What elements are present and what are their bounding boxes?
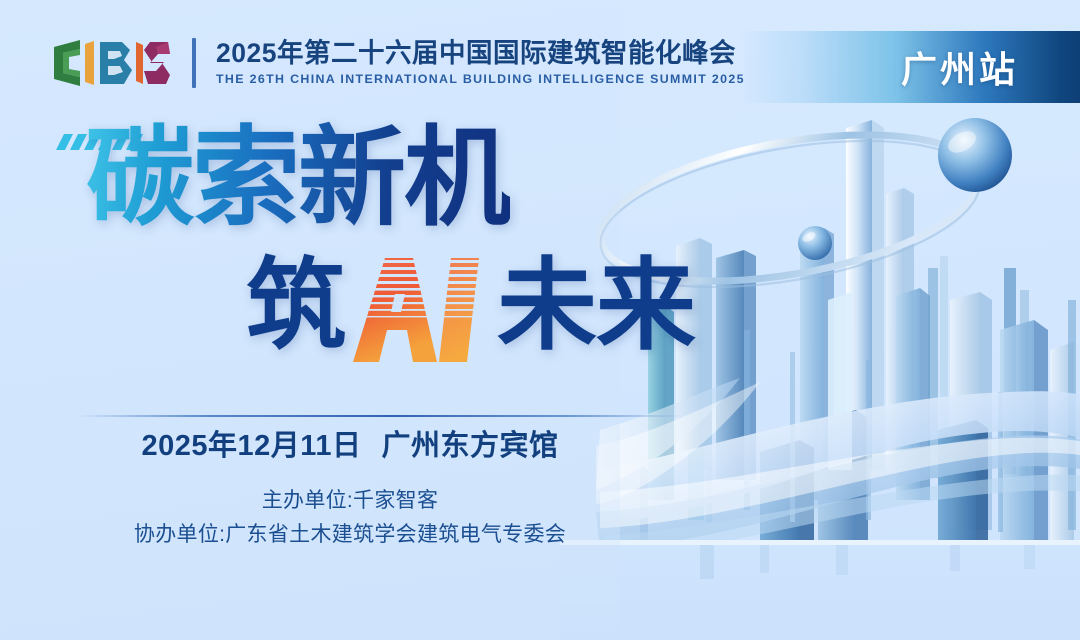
section-divider (78, 415, 682, 417)
headline-line-2: 筑 (0, 250, 700, 368)
headline-line-1: 碳索新机 (0, 118, 700, 240)
headline-line-2-suffix: 未来 (497, 250, 695, 362)
event-co-host: 协办单位:广东省土木建筑学会建筑电气专委会 (0, 518, 700, 552)
event-date: 2025年12月11日 (142, 430, 362, 462)
orbit-sphere-large (938, 118, 1012, 192)
event-banner: 2025年第二十六届中国国际建筑智能化峰会 THE 26TH CHINA INT… (0, 0, 1080, 640)
headline-line-2-prefix: 筑 (246, 250, 345, 362)
headline: 碳索新机 筑 (0, 118, 700, 368)
headline-line-1-text: 碳索新机 (86, 118, 510, 239)
event-date-venue: 2025年12月11日广州东方宾馆 (0, 428, 700, 466)
header-text: 2025年第二十六届中国国际建筑智能化峰会 THE 26TH CHINA INT… (216, 39, 745, 86)
summit-title-cn: 2025年第二十六届中国国际建筑智能化峰会 (216, 39, 745, 68)
reflective-floor (560, 540, 1080, 640)
orbit-sphere-small (798, 226, 832, 260)
summit-title-en: THE 26TH CHINA INTERNATIONAL BUILDING IN… (216, 73, 745, 87)
headline-ai-mark (351, 258, 491, 362)
city-badge: 广州站 (740, 31, 1080, 103)
cibis-logo (52, 38, 170, 88)
event-host: 主办单位:千家智客 (0, 484, 700, 518)
event-details: 2025年12月11日广州东方宾馆 主办单位:千家智客 协办单位:广东省土木建筑… (0, 428, 700, 552)
event-venue: 广州东方宾馆 (381, 430, 558, 462)
city-badge-label: 广州站 (901, 41, 1080, 93)
header-divider (192, 38, 196, 88)
header: 2025年第二十六届中国国际建筑智能化峰会 THE 26TH CHINA INT… (52, 38, 745, 88)
